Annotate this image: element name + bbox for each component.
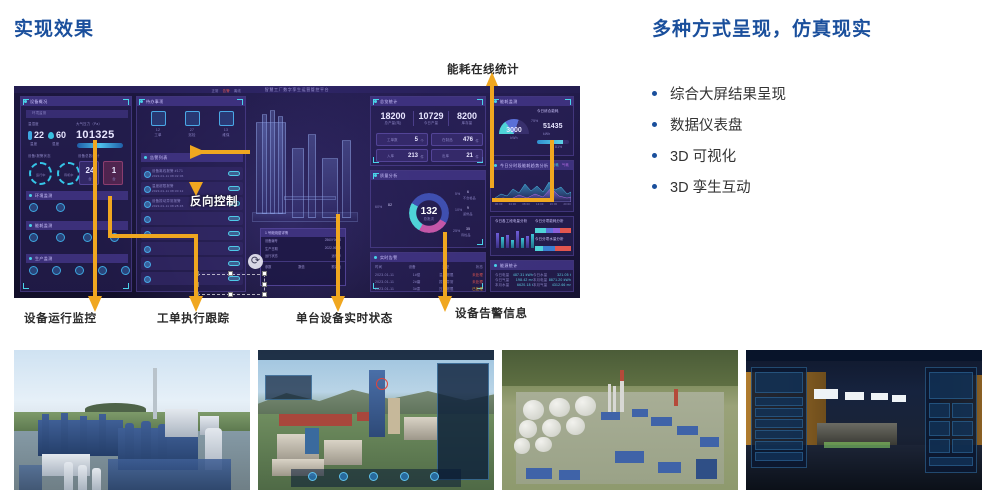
page-title-right: 多种方式呈现，仿真现实 xyxy=(652,14,872,41)
trend-area-chart xyxy=(495,174,571,202)
indoor-right-panel[interactable] xyxy=(925,367,977,473)
action-pill[interactable] xyxy=(228,261,240,266)
stack-chart-title-2: 今日分项水量分析 xyxy=(535,237,564,242)
kpi-stock: 8200 库存量 xyxy=(451,111,483,126)
panel-title: 总览统计 xyxy=(371,97,485,106)
panel-subtitle: 环境监测 xyxy=(32,111,46,116)
slice-label: 返修品 xyxy=(463,212,473,217)
caption-device-realtime: 单台设备实时状态 xyxy=(296,310,393,326)
arrow-head-down xyxy=(438,296,452,312)
corner-decor xyxy=(23,283,29,289)
corner-decor xyxy=(477,239,483,245)
bar-chart-title: 今日各工段电量分析 xyxy=(495,219,527,224)
caption-device-monitor: 设备运行监控 xyxy=(24,310,97,326)
selection-handle[interactable] xyxy=(228,271,233,276)
slice-pct: 5% xyxy=(455,192,460,197)
count-card-total: 24 台 xyxy=(79,161,99,185)
selection-handle[interactable] xyxy=(262,282,267,287)
energy-right-pct: 81% xyxy=(555,145,562,150)
list-item: 3D 可视化 xyxy=(652,140,982,171)
pressure-label: 大气压力（Pa） xyxy=(76,122,102,127)
env-section-label: 温湿度 xyxy=(28,122,39,127)
legend-offline: 离线 xyxy=(234,89,241,94)
status-ring-standby: 待机中 xyxy=(57,162,80,185)
thumbnail-indoor-scene[interactable] xyxy=(746,350,982,490)
table-header: 时间 设备 类型 状态 xyxy=(375,265,483,270)
metric-humidity: 60 xyxy=(48,130,66,140)
energy-progress-bar xyxy=(537,140,569,144)
card-inspection[interactable]: 27 巡检 xyxy=(185,111,200,138)
trend-xaxis: 00:00 04:00 08:00 12:00 16:00 20:00 xyxy=(495,203,571,207)
pressure-bar xyxy=(77,143,123,148)
energy-right-unit: kWh xyxy=(543,132,550,137)
bullet-dot-icon xyxy=(652,153,657,158)
bullet-label: 3D 可视化 xyxy=(670,145,736,166)
sensor-icon xyxy=(121,266,130,275)
stat-outbound: 出库 21 件 xyxy=(431,149,483,162)
card-workorder[interactable]: 12 工单 xyxy=(151,111,166,138)
selection-handle[interactable] xyxy=(228,292,233,297)
corner-decor xyxy=(565,99,571,105)
card-maintenance[interactable]: 13 维保 xyxy=(219,111,234,138)
list-item: 综合大屏结果呈现 xyxy=(652,78,982,109)
sensor-icon xyxy=(29,203,38,212)
indoor-left-panel[interactable] xyxy=(751,367,808,468)
selection-handle[interactable] xyxy=(262,271,267,276)
twin-left-panel[interactable] xyxy=(265,375,312,400)
kpi-row: 18200 总产量(吨) 10729 今日产量 8200 库存量 xyxy=(375,111,483,126)
selection-handle[interactable] xyxy=(194,271,199,276)
feature-bullet-list: 综合大屏结果呈现 数据仪表盘 3D 可视化 3D 孪生互动 xyxy=(652,78,982,202)
action-pill[interactable] xyxy=(228,171,240,176)
bullet-dot-icon xyxy=(652,184,657,189)
energy-right-value: 51435 xyxy=(543,123,562,130)
metric-temperature: 22 xyxy=(28,130,44,140)
group-title-env: 环境监测 xyxy=(26,191,128,200)
panel-title: 实时告警 xyxy=(371,253,485,262)
legend-alarm: 告警 xyxy=(223,89,230,94)
sensor-icon xyxy=(98,266,107,275)
stack-bar-1 xyxy=(535,228,571,233)
model-info-popup[interactable]: 1 号煅烧窑详情 设备编号 2560Y0600 生产日期 2022-06-20 … xyxy=(260,228,346,286)
detail-row: 本月水量 6620.18 t xyxy=(495,283,533,288)
count-card-alarm: 1 台 xyxy=(103,161,123,185)
popup-row: 生产日期 2022-06-20 xyxy=(261,244,345,251)
list-item: 3D 孪生互动 xyxy=(652,171,982,202)
pressure-value: 101325 xyxy=(76,129,115,141)
selection-handle[interactable] xyxy=(262,292,267,297)
count-section-label: 设备总数统计 xyxy=(78,154,100,159)
action-pill[interactable] xyxy=(228,186,240,191)
group-row-energy xyxy=(29,233,119,242)
thumbnail-digital-twin[interactable] xyxy=(258,350,494,490)
slice-pct: 10% xyxy=(455,208,462,213)
sensor-icon xyxy=(110,233,119,242)
dashboard-title: 智慧工厂数字孪生运营管控平台 xyxy=(265,86,329,93)
gauge-pct: 75% xyxy=(531,119,538,124)
group-row-prod xyxy=(29,266,130,275)
twin-topbar[interactable] xyxy=(258,350,494,360)
alarm-rows: 设备离线报警 #171 2023-01-11 08:32:06 温度超限报警 2… xyxy=(137,165,247,287)
action-pill[interactable] xyxy=(228,231,240,236)
thumbnail-strip xyxy=(14,350,982,490)
slice-value: 9 xyxy=(467,206,469,211)
caption-workorder-tracking: 工单执行跟踪 xyxy=(157,310,230,326)
popup-title: 1 号煅烧窑详情 xyxy=(261,229,345,237)
group-row-env xyxy=(29,203,65,212)
slice-pct: 60% xyxy=(375,205,382,210)
corner-decor xyxy=(123,99,129,105)
slice-value: 6 xyxy=(467,190,469,195)
list-item: 数据仪表盘 xyxy=(652,109,982,140)
slice-label: 待检品 xyxy=(461,233,471,238)
sensor-icon xyxy=(56,233,65,242)
panel-production-stats: 总览统计 18200 总产量(吨) 10729 今日产量 8200 库存量 xyxy=(370,96,486,166)
twin-bottom-dock[interactable] xyxy=(291,469,461,487)
indoor-topbar[interactable] xyxy=(746,350,982,361)
popup-table-head: 参数 数值 额定值 xyxy=(261,261,345,270)
slice-label: 不合格品 xyxy=(463,196,476,201)
energy-bar-chart xyxy=(496,228,534,248)
detail-row: 本月气量 4312.66 m³ xyxy=(533,283,571,288)
list-item[interactable] xyxy=(141,212,243,225)
corner-decor xyxy=(493,99,499,105)
action-pill[interactable] xyxy=(228,216,240,221)
corner-decor xyxy=(373,99,379,105)
refresh-icon[interactable]: ⟳ xyxy=(248,254,263,269)
sensor-icon xyxy=(29,266,38,275)
energy-right-title: 今日综合能耗 xyxy=(537,109,559,114)
caption-device-alarm: 设备告警信息 xyxy=(455,305,528,321)
thumbnail-refinery-aerial[interactable] xyxy=(502,350,738,490)
summary-cards[interactable]: 12 工单 27 巡检 13 维保 xyxy=(141,111,243,138)
action-pill[interactable] xyxy=(228,246,240,251)
kpi-total: 18200 总产量(吨) xyxy=(375,111,411,126)
group-title-energy: 能耗监测 xyxy=(26,221,128,230)
dashboard-titlebar: 智慧工厂数字孪生运营管控平台 xyxy=(14,86,580,93)
dashboard-screenshot: 智慧工厂数字孪生运营管控平台 设备概况 环境监测 温湿度 大气压力（Pa） 22… xyxy=(14,86,580,298)
bullet-label: 3D 孪生互动 xyxy=(670,176,751,197)
panel-energy-detail: 能源统计 今日电量 487.31 kWh 今日水量 321.05 t 今日气量 … xyxy=(490,260,574,292)
thumbnail-plant-daylight[interactable] xyxy=(14,350,250,490)
metric-label: 湿度 xyxy=(52,142,59,147)
corner-decor xyxy=(477,99,483,105)
stat-wip: 在制品 476 件 xyxy=(431,133,483,146)
panel-energy-monitor: 能耗监测 3000 kWh 75% 今日综合能耗 51435 kWh 81% xyxy=(490,96,574,156)
legend-group: 正常 告警 离线 xyxy=(211,89,241,94)
gauge-unit: kWh xyxy=(499,136,529,141)
panel-title: 能耗监测 xyxy=(491,97,573,106)
gauge-section-label: 设备/报警状态 xyxy=(28,154,51,159)
stack-bar-2 xyxy=(535,246,571,251)
corner-decor xyxy=(139,99,145,105)
slide-root: 实现效果 多种方式呈现，仿真现实 综合大屏结果呈现 数据仪表盘 3D 可视化 3… xyxy=(0,0,1000,498)
table-row: 2023-01-11 2#磨 振动异常 未处理 xyxy=(375,280,483,285)
legend-normal: 正常 xyxy=(211,89,218,94)
list-item[interactable] xyxy=(141,242,243,255)
kpi-today: 10729 今日产量 xyxy=(413,111,449,126)
twin-right-panel[interactable] xyxy=(437,363,489,481)
slice-pct: 25% xyxy=(453,229,460,234)
table-row: 2023-01-11 3#泵 压力超限 已处理 xyxy=(375,287,483,292)
panel-title: 质量分析 xyxy=(371,171,485,180)
reverse-control-label: 反向控制 xyxy=(190,193,238,209)
panel-energy-trend: 今日分时段能耗趋势分析 电耗 气耗 xyxy=(490,160,574,212)
energy-detail-list: 今日电量 487.31 kWh 今日水量 321.05 t 今日气量 198.4… xyxy=(495,273,571,288)
panel-realtime-alarm: 实时告警 时间 设备 类型 状态 2023-01-11 1#窑 温度超限 未处理… xyxy=(370,252,486,292)
corner-decor xyxy=(23,99,29,105)
donut-center-label: 总批次 xyxy=(409,217,449,222)
selection-handle[interactable] xyxy=(194,282,199,287)
group-title-prod: 生产监测 xyxy=(26,254,128,263)
metric-label: 温度 xyxy=(30,142,37,147)
bullet-dot-icon xyxy=(652,91,657,96)
bullet-dot-icon xyxy=(652,122,657,127)
corner-decor xyxy=(237,99,243,105)
trend-legend: 电耗 气耗 xyxy=(552,163,569,168)
donut-center-value: 132 xyxy=(409,206,449,217)
panel-quality-analysis: 质量分析 132 总批次 5% 6 不合格品 10% 9 返修品 25% 35 … xyxy=(370,170,486,248)
page-title-left: 实现效果 xyxy=(14,14,94,41)
sensor-icon xyxy=(75,266,84,275)
slice-value: 82 xyxy=(388,203,392,208)
panel-device-overview: 设备概况 环境监测 温湿度 大气压力（Pa） 22 60 温度 湿度 10132… xyxy=(20,96,132,292)
stack-chart-title: 今日分项能耗分析 xyxy=(535,219,564,224)
stat-inbound: 入库 213 件 xyxy=(376,149,428,162)
alarm-section-title: 告警列表 xyxy=(141,153,243,162)
sensor-icon xyxy=(52,266,61,275)
gauge-value: 3000 xyxy=(499,127,529,134)
sensor-icon xyxy=(83,233,92,242)
popup-row: 运行状态 运行中 xyxy=(261,252,345,259)
selection-handle[interactable] xyxy=(194,292,199,297)
corner-decor xyxy=(373,173,379,179)
table-row: 2023-01-11 1#窑 温度超限 未处理 xyxy=(375,273,483,278)
sensor-icon xyxy=(56,203,65,212)
slice-value: 35 xyxy=(466,227,470,232)
popup-row: 设备编号 2560Y0600 xyxy=(261,237,345,244)
panel-title: 待办事项 xyxy=(137,97,245,106)
sensor-icon xyxy=(29,233,38,242)
bullet-label: 数据仪表盘 xyxy=(670,114,743,135)
corner-decor xyxy=(123,283,129,289)
list-item[interactable] xyxy=(141,257,243,270)
list-item[interactable]: 设备离线报警 #171 2023-01-11 08:32:06 xyxy=(141,167,243,180)
panel-energy-breakdown: 今日各工段电量分析 今日分项能耗分析 今日分项水量分析 xyxy=(490,216,574,256)
bullet-label: 综合大屏结果呈现 xyxy=(670,83,786,104)
callout-top-label: 能耗在线统计 xyxy=(447,61,519,77)
status-ring-running: 运行中 xyxy=(29,162,52,185)
panel-title: 能源统计 xyxy=(491,261,573,270)
panel-title: 设备概况 xyxy=(21,97,131,106)
stat-workorder: 工单数 5 个 xyxy=(376,133,428,146)
3d-plant-model[interactable]: 1 号煅烧窑详情 设备编号 2560Y0600 生产日期 2022-06-20 … xyxy=(248,100,366,292)
list-item[interactable] xyxy=(141,227,243,240)
